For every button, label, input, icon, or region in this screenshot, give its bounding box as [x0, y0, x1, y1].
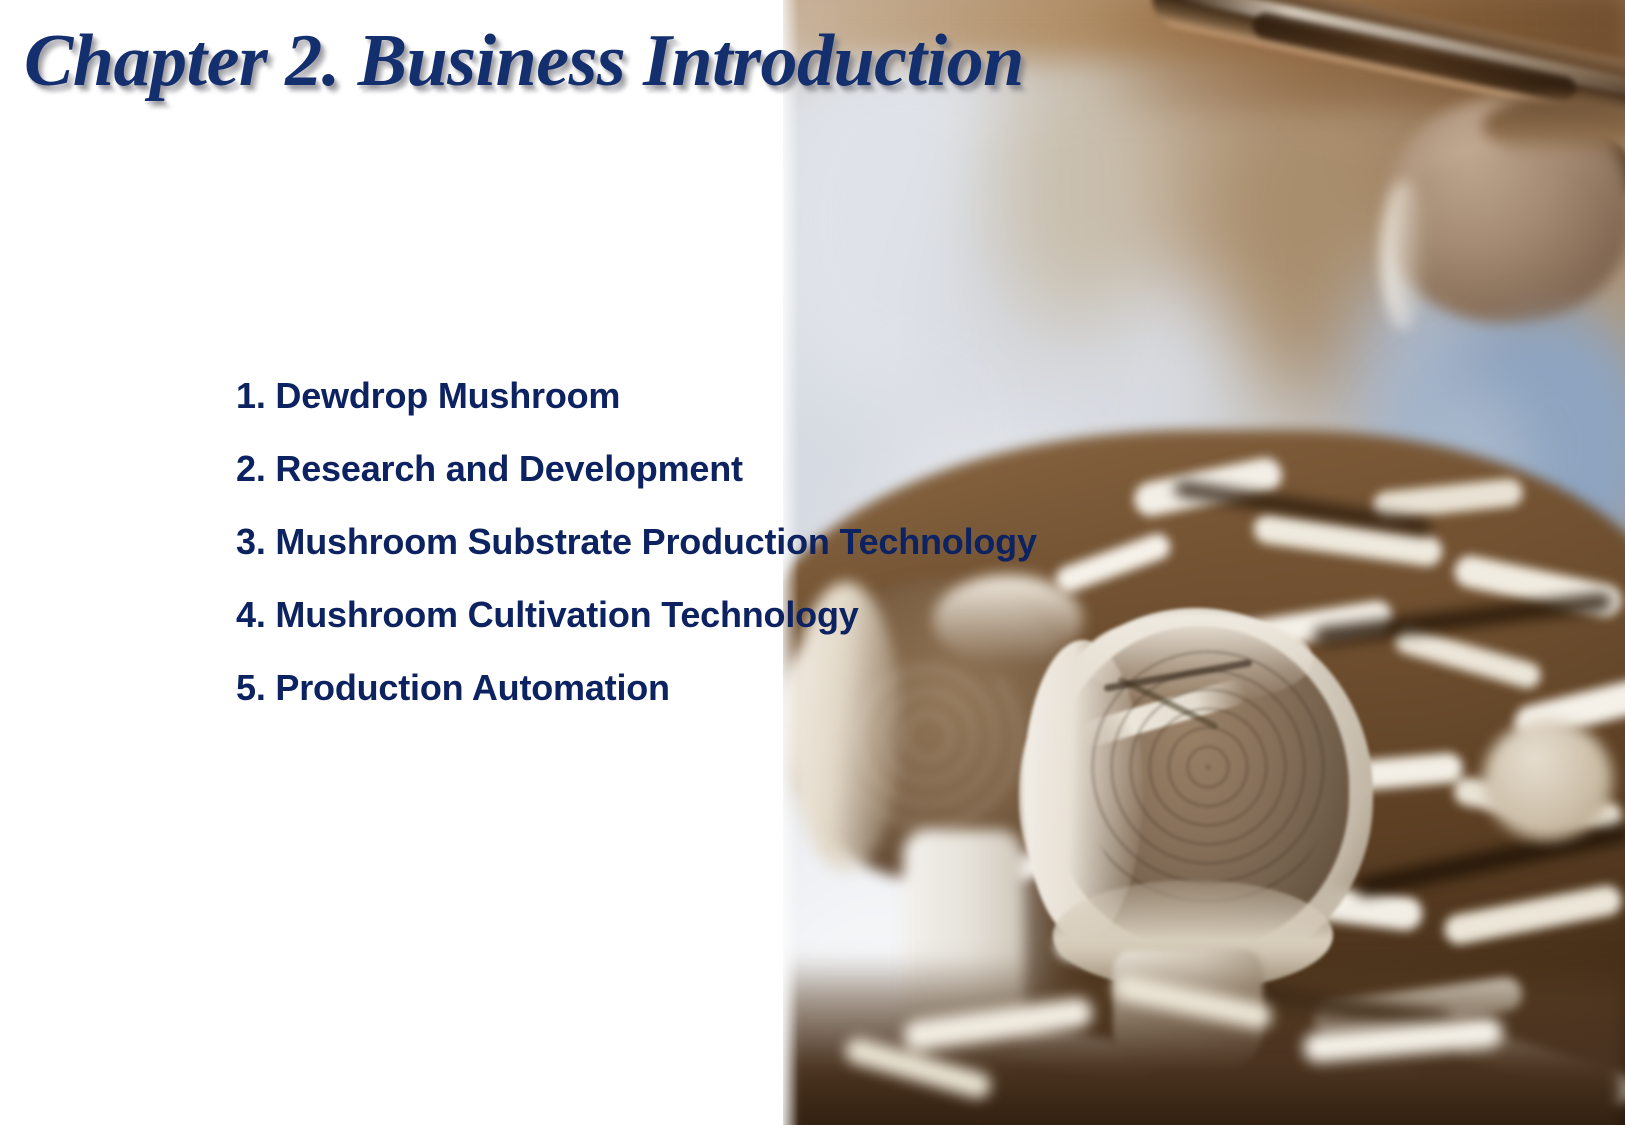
presentation-slide: Chapter 2. Business Introduction 1. Dewd…: [0, 0, 1625, 1125]
agenda-item-1[interactable]: 1. Dewdrop Mushroom: [236, 378, 1037, 414]
photo-bottom-mycelium: [783, 975, 1625, 1125]
agenda-list: 1. Dewdrop Mushroom 2. Research and Deve…: [236, 378, 1037, 706]
agenda-item-3[interactable]: 3. Mushroom Substrate Production Technol…: [236, 524, 1037, 560]
page-title: Chapter 2. Business Introduction: [24, 24, 1084, 98]
agenda-item-2[interactable]: 2. Research and Development: [236, 451, 1037, 487]
agenda-item-5[interactable]: 5. Production Automation: [236, 670, 1037, 706]
agenda-item-4[interactable]: 4. Mushroom Cultivation Technology: [236, 597, 1037, 633]
